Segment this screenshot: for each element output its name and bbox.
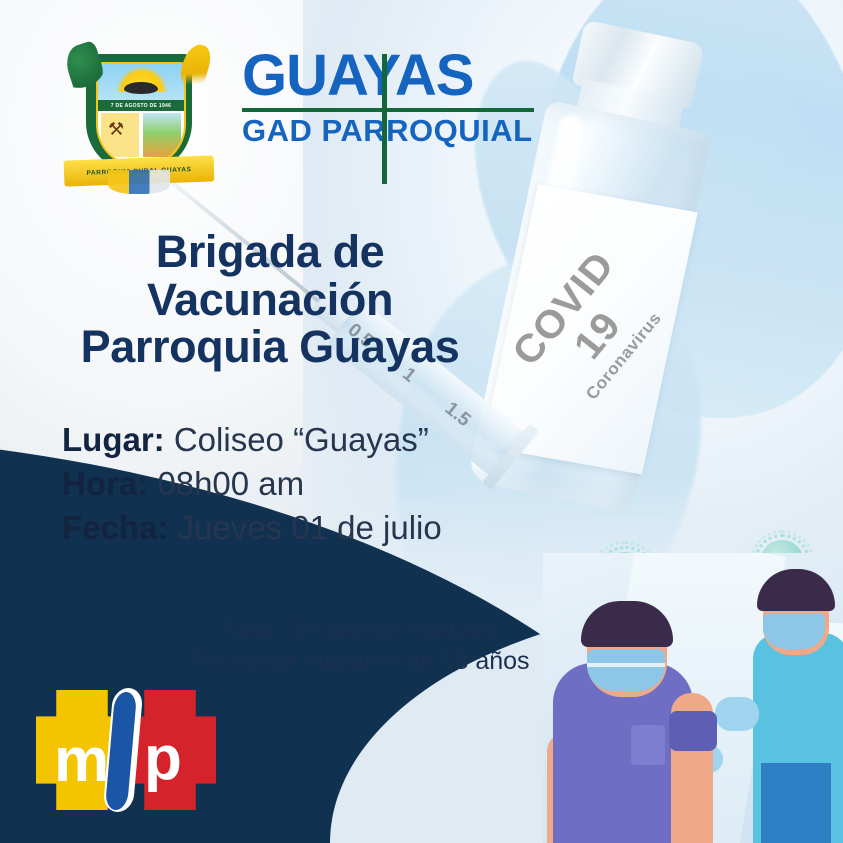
note-line-1: Nota: Se podrán vacunar (120, 613, 600, 645)
crest-date-band: 7 DE AGOSTO DE 1946 (98, 100, 184, 111)
page-title-line-2: Vacunación (0, 276, 540, 324)
crest-date-text: 7 DE AGOSTO DE 1946 (111, 103, 171, 109)
nurse-face-mask-icon (763, 613, 825, 649)
detail-label-hora: Hora: (62, 465, 148, 502)
page-title: Brigada de Vacunación Parroquia Guayas (0, 228, 540, 371)
patient-sleeve (669, 711, 717, 751)
detail-value-fecha: Jueves 01 de julio (178, 509, 442, 546)
crest-flag-icon (108, 170, 170, 194)
nurse-pants (761, 763, 831, 843)
nurse-glove-left (715, 697, 759, 731)
note-line-2: Personas mayores de 58 años (120, 645, 600, 677)
patient-face-mask-icon (587, 649, 665, 691)
brand-title-block: GUAYAS GAD PARROQUIAL (232, 48, 552, 146)
msp-logo: m p (36, 690, 226, 810)
detail-label-fecha: Fecha: (62, 509, 168, 546)
detail-row-lugar: Lugar: Coliseo “Guayas” (62, 418, 442, 462)
msp-letter-p: p (144, 728, 182, 790)
page-title-line-3: Parroquia Guayas (0, 323, 540, 371)
vaccination-illustration (543, 553, 843, 843)
coat-of-arms-icon: 7 DE AGOSTO DE 1946 ⚒ PARROQUIA RURAL GU… (72, 46, 204, 196)
brand-vertical-rule (382, 54, 387, 184)
patient-shirt-pocket (631, 725, 665, 765)
page-title-line-1: Brigada de (0, 228, 540, 276)
crest-quarter-landscape (143, 113, 181, 157)
header: 7 DE AGOSTO DE 1946 ⚒ PARROQUIA RURAL GU… (72, 46, 542, 196)
patient-mask-highlight (587, 663, 665, 667)
crest-tools-icon: ⚒ (108, 120, 132, 148)
detail-value-hora: 08h00 am (157, 465, 304, 502)
note-text: Nota: Se podrán vacunar Personas mayores… (120, 613, 600, 677)
event-details: Lugar: Coliseo “Guayas” Hora: 08h00 am F… (62, 418, 442, 550)
brand-name: GUAYAS (232, 48, 552, 104)
detail-label-lugar: Lugar: (62, 421, 165, 458)
msp-letter-m: m (54, 730, 109, 792)
brand-subtitle: GAD PARROQUIAL (232, 115, 552, 146)
detail-row-hora: Hora: 08h00 am (62, 462, 442, 506)
brand-horizontal-rule (242, 108, 534, 112)
vaccination-campaign-poster: COVID 19 Coronavirus 0.5 1 1.5 (0, 0, 843, 843)
detail-row-fecha: Fecha: Jueves 01 de julio (62, 506, 442, 550)
crest-inner-field: 7 DE AGOSTO DE 1946 ⚒ (96, 62, 186, 166)
crest-wing-icon (124, 82, 158, 94)
detail-value-lugar: Coliseo “Guayas” (174, 421, 429, 458)
